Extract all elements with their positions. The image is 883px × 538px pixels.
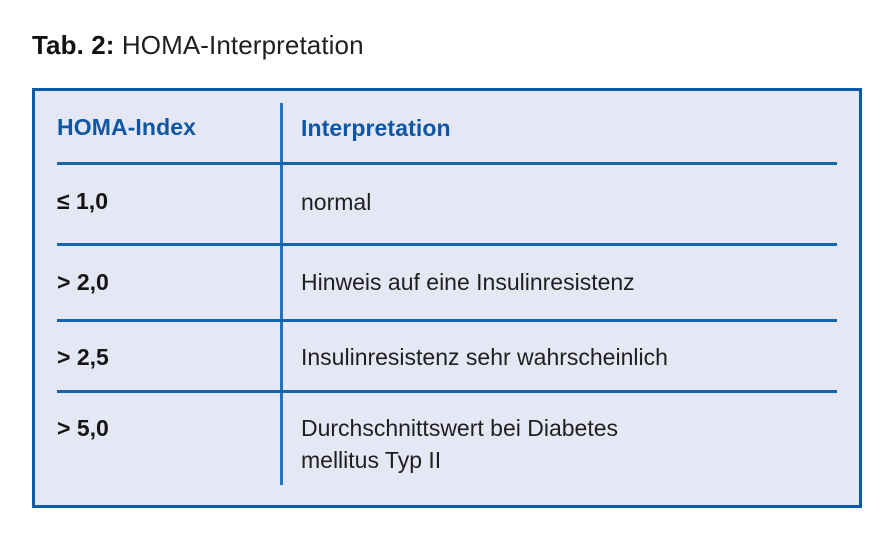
row-separator-2 (57, 319, 837, 322)
table-row-2-index: > 2,0 (57, 267, 277, 297)
table-row-4-interpretation-line1: Durchschnittswert bei Diabetes (301, 415, 618, 441)
column-header-interpretation: Interpretation (301, 112, 841, 144)
table-row-4-index: > 5,0 (57, 413, 277, 443)
table-row-4-interpretation-line2: mellitus Typ II (301, 444, 841, 476)
header-rule (57, 162, 837, 165)
table-caption: Tab. 2: HOMA-Interpretation (32, 29, 364, 61)
row-separator-1 (57, 243, 837, 246)
caption-label: Tab. 2: (32, 30, 115, 60)
table-row-3-index: > 2,5 (57, 342, 277, 372)
column-divider (280, 103, 283, 485)
table-row-1-interpretation: normal (301, 186, 841, 218)
table-row-3-interpretation: Insulinresistenz sehr wahrscheinlich (301, 341, 841, 373)
caption-text: HOMA-Interpretation (115, 30, 364, 60)
table-figure: Tab. 2: HOMA-Interpretation HOMA-Index I… (0, 0, 883, 538)
table-row-2-interpretation: Hinweis auf eine Insulinresistenz (301, 266, 841, 298)
column-header-homa-index: HOMA-Index (57, 112, 277, 142)
row-separator-3 (57, 390, 837, 393)
table-row-4-interpretation: Durchschnittswert bei Diabetes mellitus … (301, 412, 841, 476)
table-row-1-index: ≤ 1,0 (57, 186, 277, 216)
homa-interpretation-table: HOMA-Index Interpretation ≤ 1,0 normal >… (32, 88, 862, 508)
